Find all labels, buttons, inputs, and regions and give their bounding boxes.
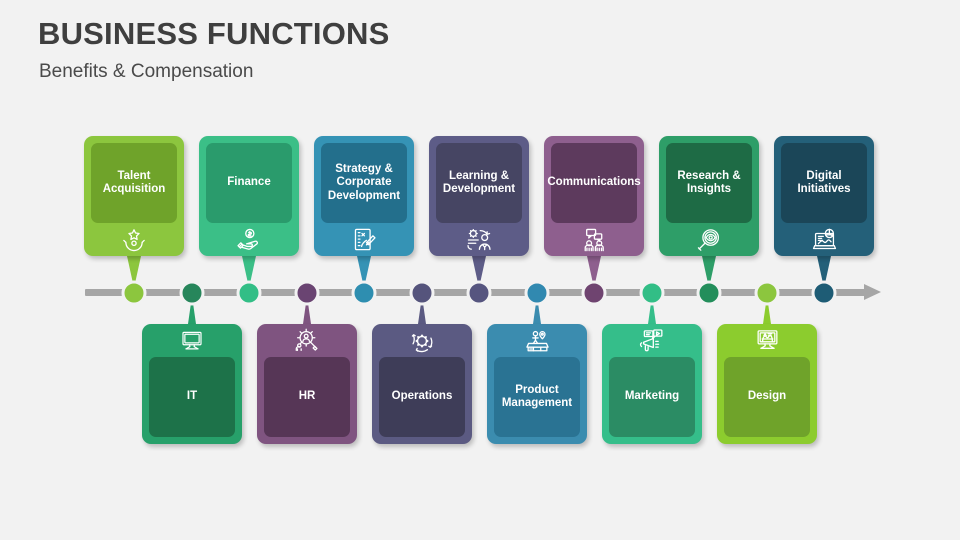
card-label: Design xyxy=(724,357,810,437)
page-subtitle: Benefits & Compensation xyxy=(39,61,253,83)
magnifier-eye-icon xyxy=(666,223,752,256)
top-card-digital-initiatives[interactable]: Digital Initiatives xyxy=(774,136,874,256)
card-label: Marketing xyxy=(609,357,695,437)
timeline-dot-hr[interactable] xyxy=(295,280,320,305)
bottom-card-hr[interactable]: HR xyxy=(257,324,357,444)
timeline-dot-product-management[interactable] xyxy=(525,280,550,305)
card-label: Communications xyxy=(551,143,637,223)
card-label: Digital Initiatives xyxy=(781,143,867,223)
slide-canvas: BUSINESS FUNCTIONS Benefits & Compensati… xyxy=(0,0,960,540)
card-label: Finance xyxy=(206,143,292,223)
card-label: Product Management xyxy=(494,357,580,437)
monitor-icon xyxy=(149,324,235,357)
card-label: HR xyxy=(264,357,350,437)
bottom-card-operations[interactable]: Operations xyxy=(372,324,472,444)
timeline-dot-research-and-insights[interactable] xyxy=(697,280,722,305)
product-desk-icon xyxy=(494,324,580,357)
training-person-icon xyxy=(436,223,522,256)
card-label: Research & Insights xyxy=(666,143,752,223)
timeline-dot-digital-initiatives[interactable] xyxy=(812,280,837,305)
bottom-card-it[interactable]: IT xyxy=(142,324,242,444)
top-card-strategy-and-corporate-development[interactable]: Strategy & Corporate Development xyxy=(314,136,414,256)
megaphone-screen-icon xyxy=(609,324,695,357)
timeline-dot-finance[interactable] xyxy=(237,280,262,305)
timeline-dot-strategy-and-corporate-development[interactable] xyxy=(352,280,377,305)
timeline-dot-learning-and-development[interactable] xyxy=(467,280,492,305)
top-card-talent-acquisition[interactable]: Talent Acquisition xyxy=(84,136,184,256)
card-label: Operations xyxy=(379,357,465,437)
page-title: BUSINESS FUNCTIONS xyxy=(38,16,390,52)
timeline-dot-design[interactable] xyxy=(755,280,780,305)
laptop-analytics-icon xyxy=(781,223,867,256)
top-card-learning-and-development[interactable]: Learning & Development xyxy=(429,136,529,256)
card-label: Learning & Development xyxy=(436,143,522,223)
card-label: IT xyxy=(149,357,235,437)
timeline-dot-operations[interactable] xyxy=(410,280,435,305)
top-card-research-and-insights[interactable]: Research & Insights xyxy=(659,136,759,256)
hand-coin-icon xyxy=(206,223,292,256)
timeline-dot-talent-acquisition[interactable] xyxy=(122,280,147,305)
people-magnifier-icon xyxy=(264,324,350,357)
top-card-finance[interactable]: Finance xyxy=(199,136,299,256)
person-star-icon xyxy=(91,223,177,256)
timeline-dot-it[interactable] xyxy=(180,280,205,305)
card-label: Strategy & Corporate Development xyxy=(321,143,407,223)
timeline-arrow-icon xyxy=(864,284,881,300)
bottom-card-product-management[interactable]: Product Management xyxy=(487,324,587,444)
timeline-dot-marketing[interactable] xyxy=(640,280,665,305)
gear-cycle-icon xyxy=(379,324,465,357)
card-label: Talent Acquisition xyxy=(91,143,177,223)
timeline-dot-communications[interactable] xyxy=(582,280,607,305)
strategy-board-icon xyxy=(321,223,407,256)
top-card-communications[interactable]: Communications xyxy=(544,136,644,256)
chat-people-icon xyxy=(551,223,637,256)
bottom-card-marketing[interactable]: Marketing xyxy=(602,324,702,444)
bottom-card-design[interactable]: Design xyxy=(717,324,817,444)
design-monitor-icon xyxy=(724,324,810,357)
